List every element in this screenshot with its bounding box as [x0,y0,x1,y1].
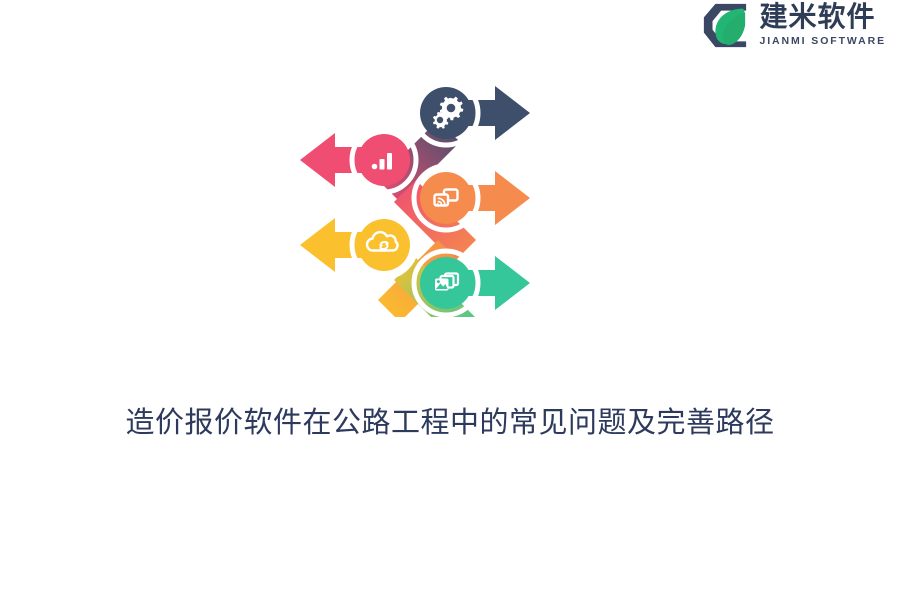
row-cloud-sync[interactable] [300,213,416,277]
brand-text: 建米软件 JIANMI SOFTWARE [759,3,886,47]
circle-cloud-sync [358,219,410,271]
process-arrows-infographic [290,62,540,317]
page-title: 造价报价软件在公路工程中的常见问题及完善路径 [0,399,900,441]
brand-name-cn: 建米软件 [759,3,886,31]
brand-name-en: JIANMI SOFTWARE [759,36,886,47]
brand-logo: 建米软件 JIANMI SOFTWARE [701,0,886,50]
jianmi-logo-mark-icon [701,1,749,49]
